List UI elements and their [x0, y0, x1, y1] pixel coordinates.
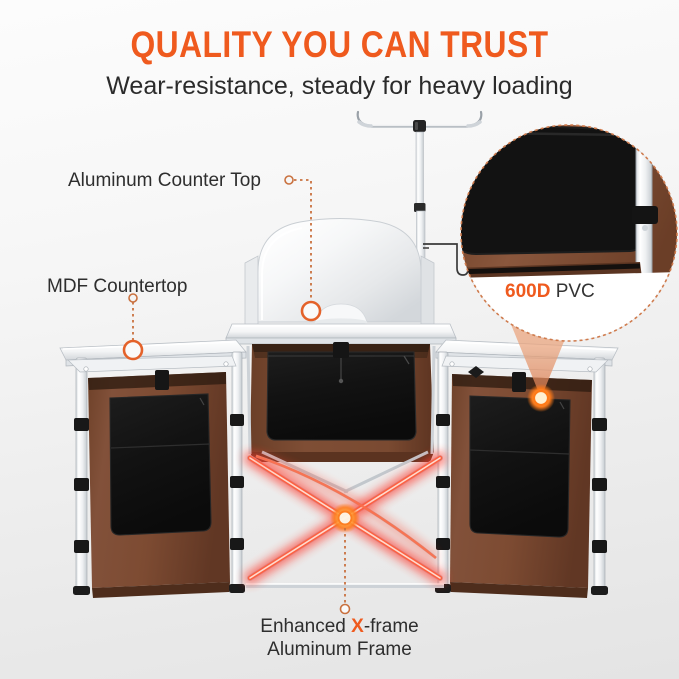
infographic-stage: QUALITY YOU CAN TRUST Wear-resistance, s… [0, 0, 679, 679]
callout-xframe-pre: Enhanced [260, 616, 351, 637]
product-illustration [0, 0, 679, 679]
callout-mdf-countertop: MDF Countertop [47, 276, 187, 298]
magnifier-circle [455, 122, 679, 352]
center-storage-bag [250, 342, 434, 462]
callout-pvc: 600D PVC [505, 281, 595, 303]
center-counter-top [226, 324, 456, 344]
callout-xframe-post: -frame [364, 616, 419, 637]
page-title: QUALITY YOU CAN TRUST [48, 24, 632, 66]
callout-pvc-material-text: PVC [556, 281, 595, 302]
callout-xframe: Enhanced X-frame Aluminum Frame [0, 616, 679, 662]
callout-xframe-line2: Aluminum Frame [0, 639, 679, 662]
callout-xframe-line1: Enhanced X-frame [0, 616, 679, 639]
right-cabinet-fabric [450, 372, 592, 598]
callout-aluminum-counter-top: Aluminum Counter Top [68, 170, 261, 192]
callout-xframe-mark: X [351, 616, 364, 637]
page-subtitle: Wear-resistance, steady for heavy loadin… [0, 72, 679, 101]
left-cabinet-fabric [88, 370, 230, 598]
glow-point-marker [527, 384, 555, 412]
callout-pvc-denier: 600D [505, 281, 550, 302]
windscreen-panel [245, 219, 434, 326]
